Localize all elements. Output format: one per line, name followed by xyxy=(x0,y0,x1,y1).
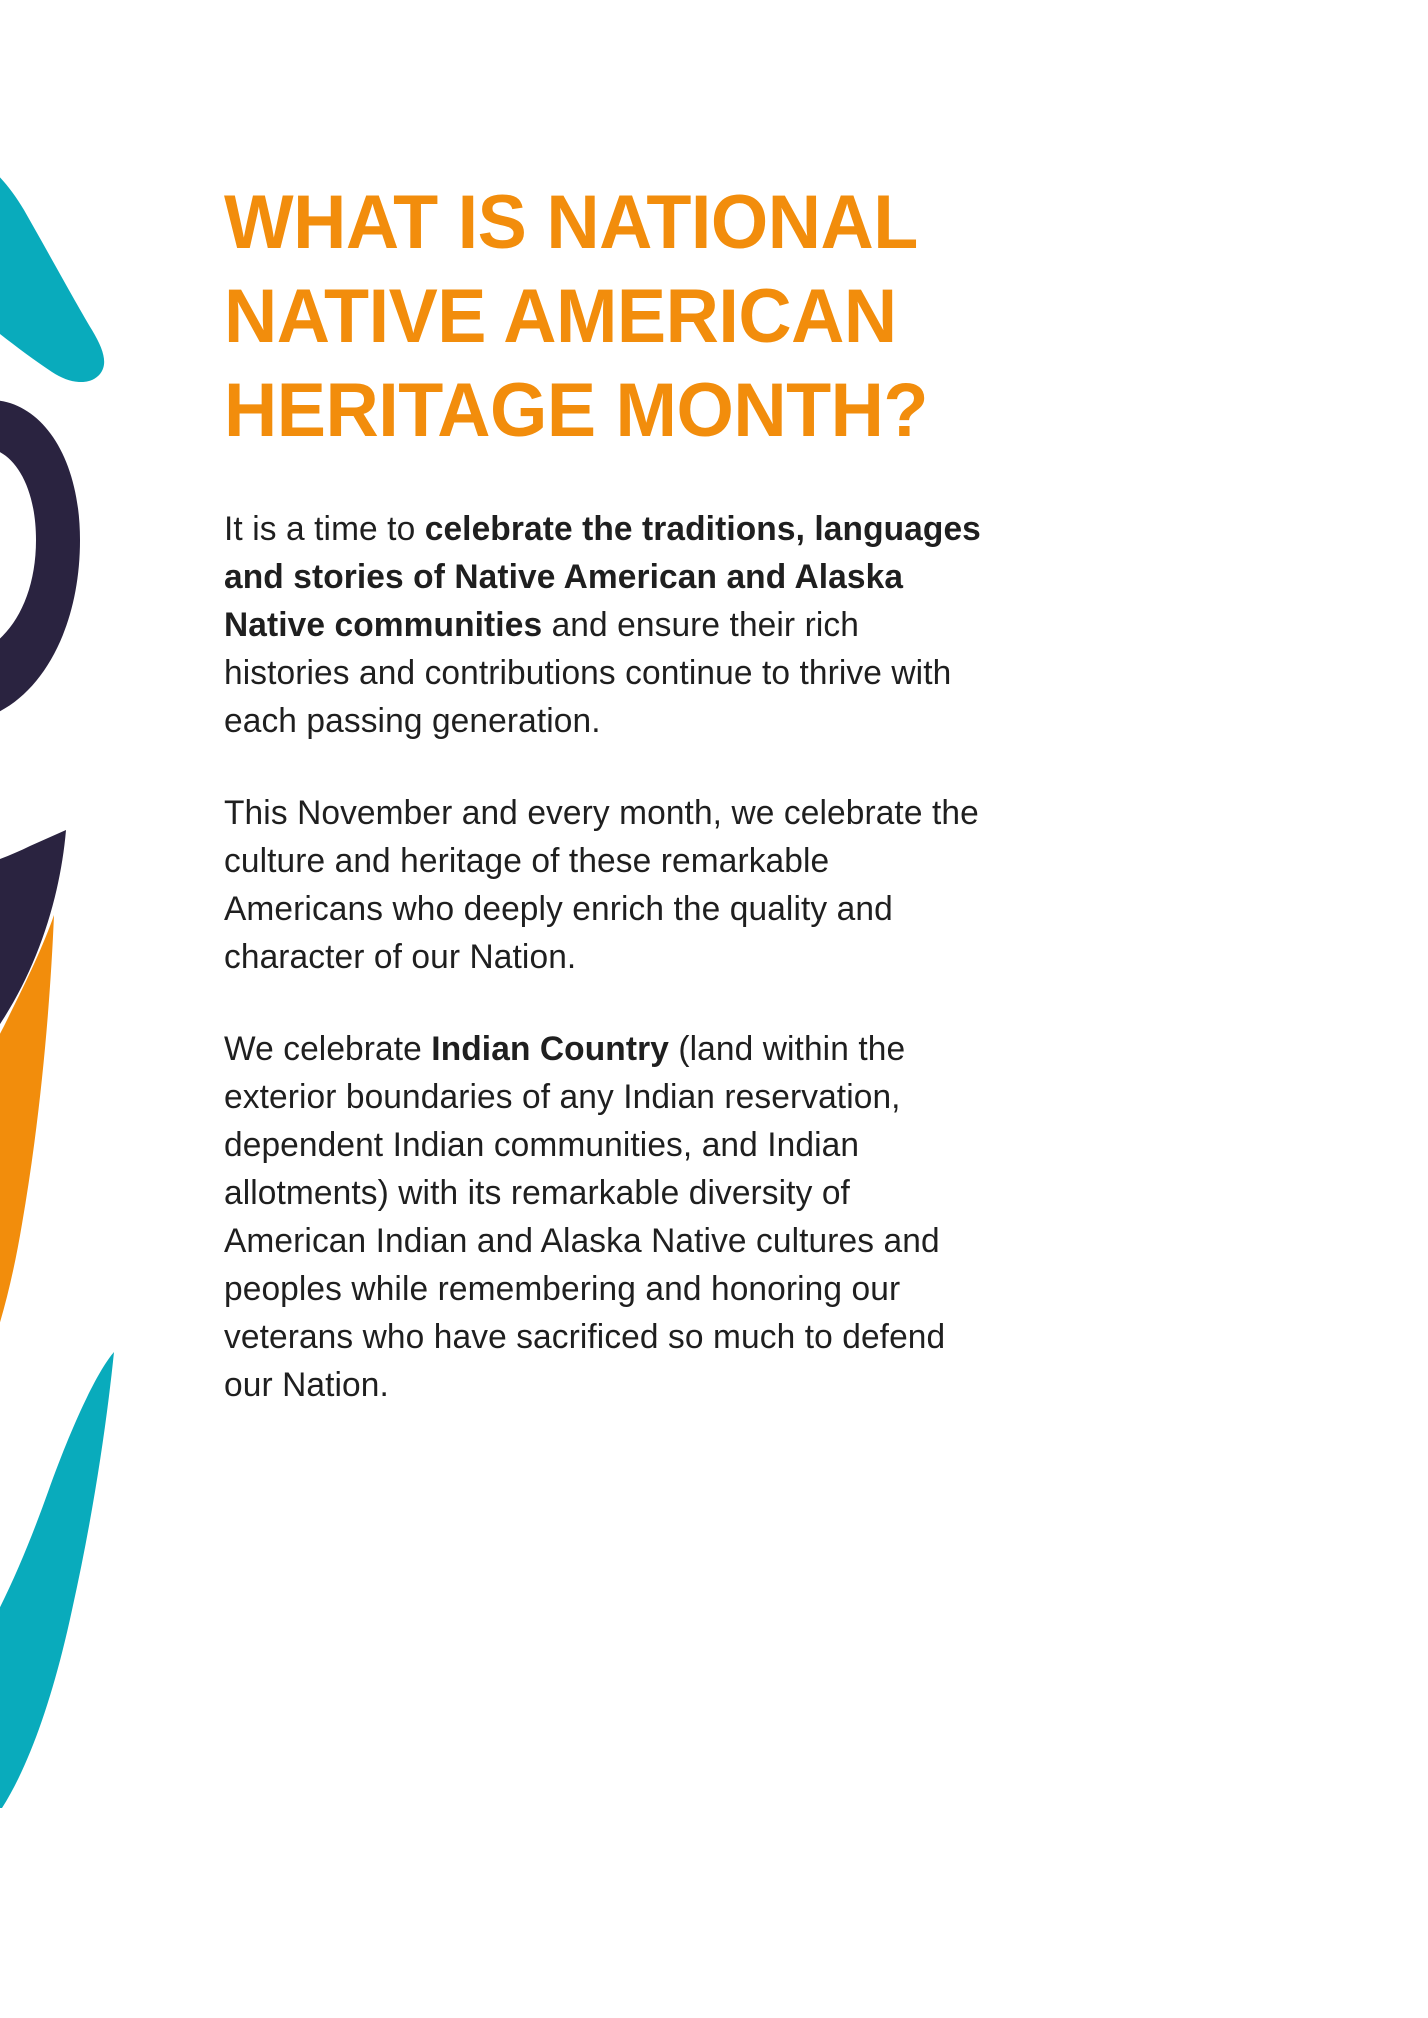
paragraph-3: We celebrate Indian Country (land within… xyxy=(224,1025,982,1409)
orange-petal-shape xyxy=(0,915,54,1400)
navy-crescent-shape xyxy=(0,830,66,1102)
navy-ring-shape xyxy=(0,400,80,718)
body-text: It is a time to xyxy=(224,510,425,548)
page-title-line-3: HERITAGE MONTH? xyxy=(224,368,928,453)
page-title-line-2: NATIVE AMERICAN xyxy=(224,274,897,359)
body-text: We celebrate xyxy=(224,1030,431,1068)
body-text: (land within the exterior boundaries of … xyxy=(224,1030,945,1404)
page-title: WHAT IS NATIONAL NATIVE AMERICAN HERITAG… xyxy=(224,176,990,458)
body-copy: It is a time to celebrate the traditions… xyxy=(224,505,994,1409)
paragraph-1: It is a time to celebrate the traditions… xyxy=(224,505,982,745)
teal-sliver-lower-shape xyxy=(0,1352,114,1808)
body-text: This November and every month, we celebr… xyxy=(224,794,979,976)
teal-petal-upper-shape xyxy=(0,149,104,382)
feather-petal-graphic xyxy=(0,0,240,2018)
page-title-line-1: WHAT IS NATIONAL xyxy=(224,180,918,265)
emphasis-text: Indian Country xyxy=(431,1030,669,1068)
poster-page: WHAT IS NATIONAL NATIVE AMERICAN HERITAG… xyxy=(0,0,1428,2018)
paragraph-2: This November and every month, we celebr… xyxy=(224,789,982,981)
